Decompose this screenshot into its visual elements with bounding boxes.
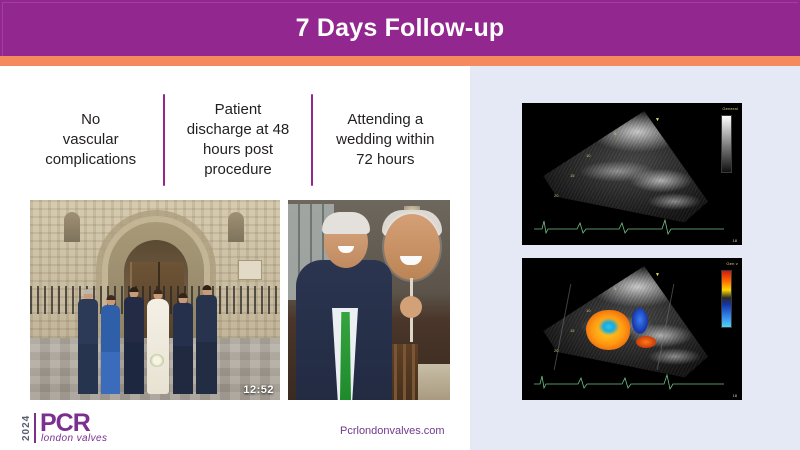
echo-depth-tick: 5 — [614, 131, 616, 136]
slide-root: 7 Days Follow-up No vascular complicatio… — [0, 0, 800, 450]
logo-year: 2024 — [14, 414, 40, 442]
patient-hand — [400, 296, 422, 318]
bride-dress — [147, 299, 169, 394]
pcr-london-valves-logo: 2024 PCR london valves — [14, 412, 132, 444]
person-figure — [196, 286, 217, 394]
person-figure — [78, 290, 98, 394]
ecg-trace — [534, 217, 724, 235]
person-figure — [124, 288, 144, 394]
wedding-group-photo: 12:52 — [30, 200, 280, 400]
doppler-jet-secondary — [636, 336, 656, 348]
person-hair — [179, 293, 188, 298]
echo-depth-tick: 20 — [554, 193, 558, 198]
person-torso — [101, 305, 120, 353]
echo-depth-tick: 10 — [586, 153, 590, 158]
patient-portrait-photo — [288, 200, 450, 400]
echo-preset-label: General — [722, 106, 738, 111]
bullet-item-3: Attending a wedding within 72 hours — [313, 110, 458, 169]
person-legs — [173, 346, 193, 394]
echo-apex-marker: ▼ — [655, 117, 660, 123]
ecg-waveform — [534, 372, 724, 390]
person-torso — [173, 303, 193, 349]
echo-apex-marker: ▼ — [655, 272, 660, 278]
echo-depth-tick: 15 — [570, 173, 574, 178]
facade-plaque — [238, 260, 262, 280]
echo-depth-tick: 10 — [586, 308, 590, 313]
grayscale-bar — [721, 115, 732, 173]
doppler-jet-toward — [586, 310, 630, 350]
photo-row: 12:52 — [30, 200, 450, 400]
outcome-bullets: No vascular complications Patient discha… — [18, 86, 458, 194]
person-hair — [106, 295, 115, 300]
logo-divider — [34, 413, 36, 443]
content-area: No vascular complications Patient discha… — [0, 66, 470, 450]
person-figure — [173, 294, 193, 394]
logo-subtitle: london valves — [41, 433, 107, 444]
person-hair — [202, 285, 211, 290]
bridal-bouquet — [150, 354, 164, 367]
facade-niche-left — [64, 212, 80, 242]
person-legs — [101, 352, 120, 394]
footer-url[interactable]: Pcrlondonvalves.com — [340, 425, 445, 437]
color-doppler-scale-bar — [721, 270, 732, 328]
person-legs — [196, 342, 217, 394]
echo-corner-label: 18 — [733, 393, 737, 398]
person-hair — [130, 287, 139, 292]
patient-hair — [322, 212, 370, 234]
doppler-jet-away — [632, 308, 648, 334]
face-cutout — [384, 214, 440, 280]
patient-green-tie — [340, 312, 351, 400]
person-hair — [154, 289, 163, 294]
facade-niche-right — [228, 212, 244, 242]
echo-corner-label: 18 — [733, 238, 737, 243]
header-accent-strip — [0, 56, 800, 66]
photo-timestamp: 12:52 — [243, 384, 274, 396]
echo-depth-tick: 5 — [614, 286, 616, 291]
echo-sector-2d — [540, 111, 708, 227]
wedding-party-group — [74, 286, 244, 394]
ecg-trace — [534, 372, 724, 390]
ecg-waveform — [534, 217, 724, 235]
person-legs — [124, 342, 144, 394]
echo-preset-label: Gen v — [726, 261, 738, 266]
person-legs — [78, 344, 98, 394]
echocardiogram-2d[interactable]: General ▼ 5 10 15 20 18 — [522, 103, 742, 245]
person-torso — [78, 299, 98, 345]
person-torso — [124, 297, 144, 345]
person-figure-bride — [147, 290, 169, 394]
echo-depth-tick: 15 — [570, 328, 574, 333]
dining-table — [416, 364, 450, 400]
echocardiogram-color-doppler[interactable]: Gen v ▼ 5 10 15 20 18 — [522, 258, 742, 400]
page-title: 7 Days Follow-up — [296, 14, 505, 43]
bullet-item-2: Patient discharge at 48 hours post proce… — [165, 100, 310, 179]
echo-depth-tick: 20 — [554, 348, 558, 353]
slide-header-banner: 7 Days Follow-up — [0, 0, 800, 56]
person-torso — [196, 295, 217, 345]
bullet-item-1: No vascular complications — [18, 110, 163, 169]
doppler-flow-overlay — [584, 306, 660, 352]
person-figure — [101, 296, 120, 394]
person-hair — [84, 289, 93, 294]
